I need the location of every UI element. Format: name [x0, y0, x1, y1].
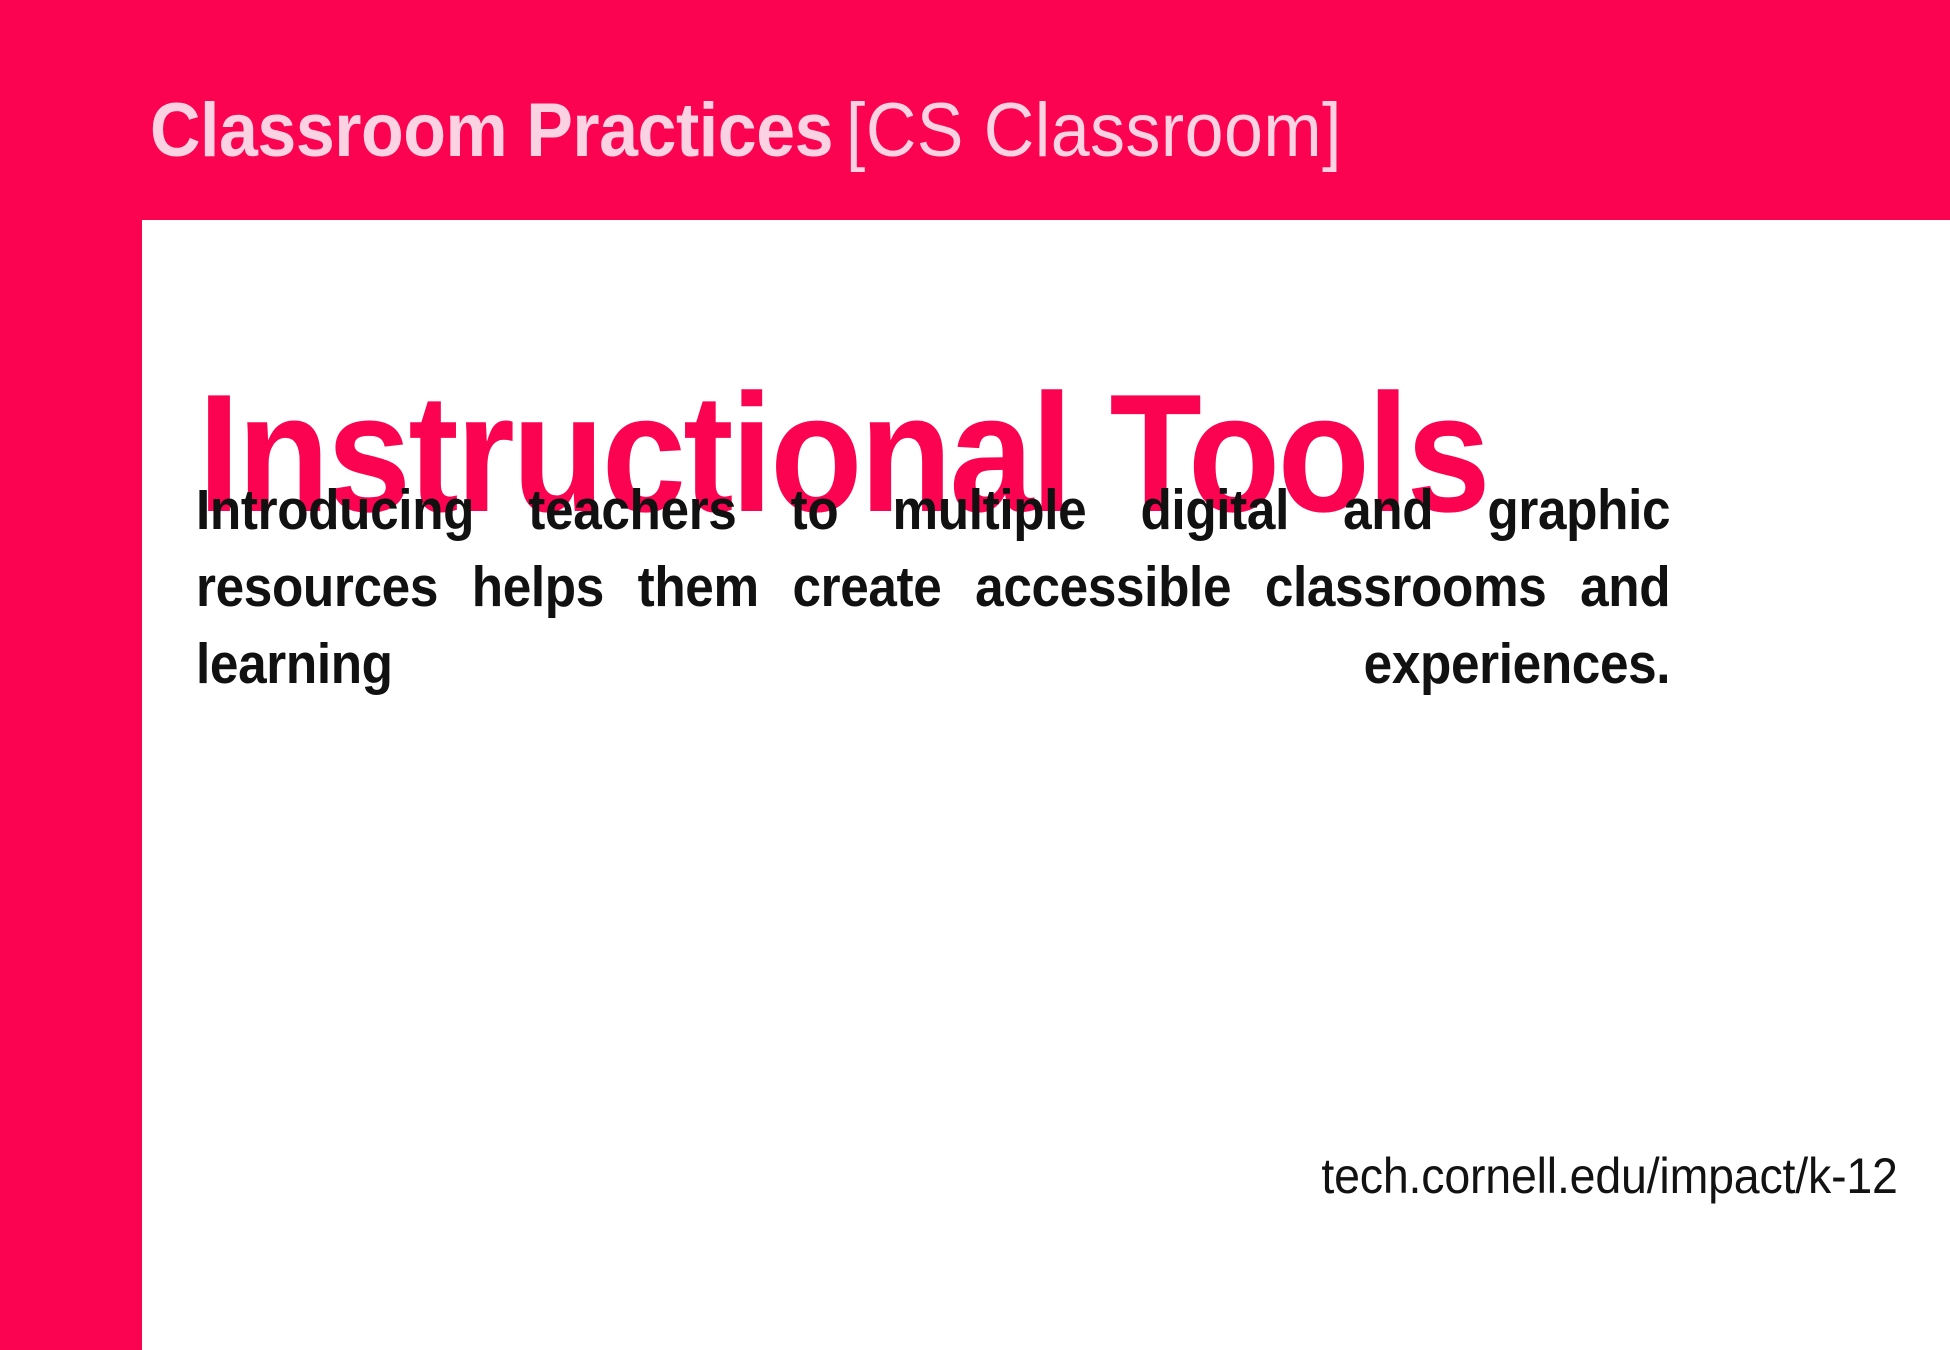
description-text: Introducing teachers to multiple digital…	[196, 472, 1670, 780]
header-band: Classroom Practices[CS Classroom]	[0, 0, 1950, 220]
classroom-practices-card: Classroom Practices[CS Classroom] Instru…	[0, 0, 1950, 1350]
header-context-label: [CS Classroom]	[846, 88, 1342, 173]
header-series-label: Classroom Practices	[150, 88, 833, 173]
content-panel: Instructional Tools Introducing teachers…	[142, 220, 1950, 1350]
header-title: Classroom Practices[CS Classroom]	[150, 86, 1342, 176]
footer-url[interactable]: tech.cornell.edu/impact/k-12	[1322, 1147, 1898, 1205]
